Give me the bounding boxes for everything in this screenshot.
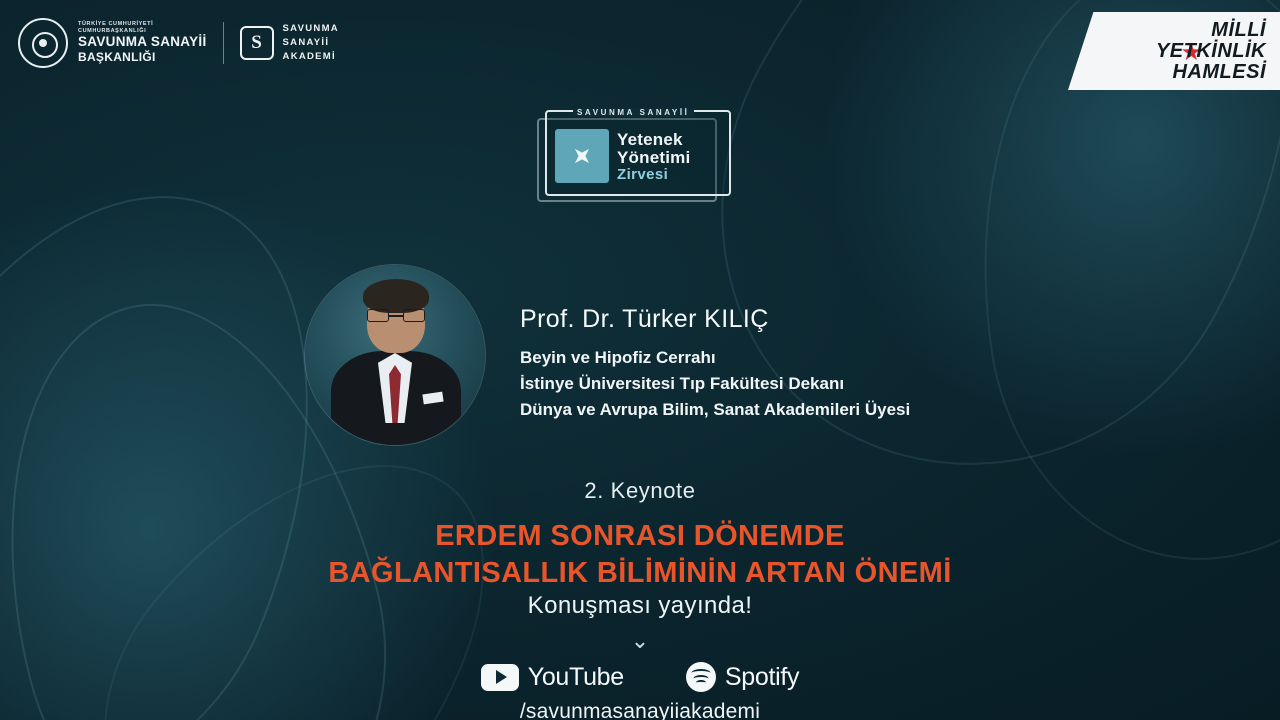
keynote-title: ERDEM SONRASI DÖNEMDE BAĞLANTISALLIK BİL… — [0, 518, 1280, 592]
chevron-down-icon: ⌄ — [0, 630, 1280, 652]
summit-badge-lines: Yetenek Yönetimi Zirvesi — [617, 131, 690, 182]
speaker-title-1: Beyin ve Hipofiz Cerrahı — [520, 345, 910, 371]
milli-yetkinlik-hamlesi-logo: ★ MİLLİ YETKİNLİK HAMLESİ — [1068, 12, 1280, 90]
summit-badge-line-3: Zirvesi — [617, 167, 690, 183]
summit-badge-top-text: SAVUNMA SANAYİİ — [573, 108, 694, 117]
akademi-line-3: AKADEMİ — [283, 50, 339, 64]
speaker-name: Prof. Dr. Türker KILIÇ — [520, 305, 910, 334]
top-left-logo-group: TÜRKİYE CUMHURİYETİ CUMHURBAŞKANLIĞI SAV… — [18, 18, 339, 68]
summit-badge: SAVUNMA SANAYİİ Yetenek Yönetimi Zirvesi — [545, 110, 731, 196]
social-handle: /savunmasanayiiakademi — [0, 700, 1280, 720]
ssb-logo: TÜRKİYE CUMHURİYETİ CUMHURBAŞKANLIĞI SAV… — [18, 18, 207, 68]
akademi-s-mark-icon: S — [240, 26, 274, 60]
akademi-line-2: SANAYİİ — [283, 36, 339, 50]
myh-line-2: YETKİNLİK — [1156, 41, 1266, 62]
speaker-title-2: İstinye Üniversitesi Tıp Fakültesi Dekan… — [520, 371, 910, 397]
platform-youtube-label: YouTube — [528, 663, 624, 692]
summit-badge-front: SAVUNMA SANAYİİ Yetenek Yönetimi Zirvesi — [545, 110, 731, 196]
ssb-logo-text: TÜRKİYE CUMHURİYETİ CUMHURBAŞKANLIĞI SAV… — [78, 21, 207, 64]
diamond-compass-icon — [555, 129, 609, 183]
ssb-sub-line: BAŞKANLIĞI — [78, 50, 207, 64]
speaker-title-3: Dünya ve Avrupa Bilim, Sanat Akademileri… — [520, 397, 910, 423]
akademi-logo: S SAVUNMA SANAYİİ AKADEMİ — [240, 22, 339, 63]
akademi-line-1: SAVUNMA — [283, 22, 339, 36]
keynote-label: 2. Keynote — [0, 478, 1280, 504]
myh-logo-text: MİLLİ YETKİNLİK HAMLESİ — [1156, 20, 1266, 83]
platform-spotify-label: Spotify — [725, 663, 799, 692]
platform-list: YouTube Spotify — [0, 662, 1280, 692]
myh-line-1: MİLLİ — [1156, 20, 1266, 41]
keynote-title-line-1: ERDEM SONRASI DÖNEMDE — [0, 518, 1280, 555]
portrait-hair — [363, 279, 429, 313]
crescent-star-emblem-icon — [18, 18, 68, 68]
platform-youtube[interactable]: YouTube — [481, 663, 624, 692]
myh-line-3: HAMLESİ — [1156, 62, 1266, 83]
summit-badge-line-2: Yönetimi — [617, 149, 690, 167]
akademi-logo-text: SAVUNMA SANAYİİ AKADEMİ — [283, 22, 339, 63]
keynote-title-line-2: BAĞLANTISALLIK BİLİMİNİN ARTAN ÖNEMİ — [0, 555, 1280, 592]
keynote-subtitle: Konuşması yayında! — [0, 592, 1280, 620]
glasses-icon — [367, 309, 425, 322]
ssb-tiny-line-2: CUMHURBAŞKANLIĞI — [78, 28, 207, 34]
speaker-info: Prof. Dr. Türker KILIÇ Beyin ve Hipofiz … — [520, 305, 910, 422]
logo-divider — [223, 22, 224, 64]
speaker-portrait — [305, 265, 485, 445]
summit-badge-line-1: Yetenek — [617, 131, 690, 149]
platform-spotify[interactable]: Spotify — [686, 662, 799, 692]
spotify-icon — [686, 662, 716, 692]
youtube-icon — [481, 664, 519, 691]
poster-canvas: TÜRKİYE CUMHURİYETİ CUMHURBAŞKANLIĞI SAV… — [0, 0, 1280, 720]
ssb-main-line: SAVUNMA SANAYİİ — [78, 34, 207, 50]
